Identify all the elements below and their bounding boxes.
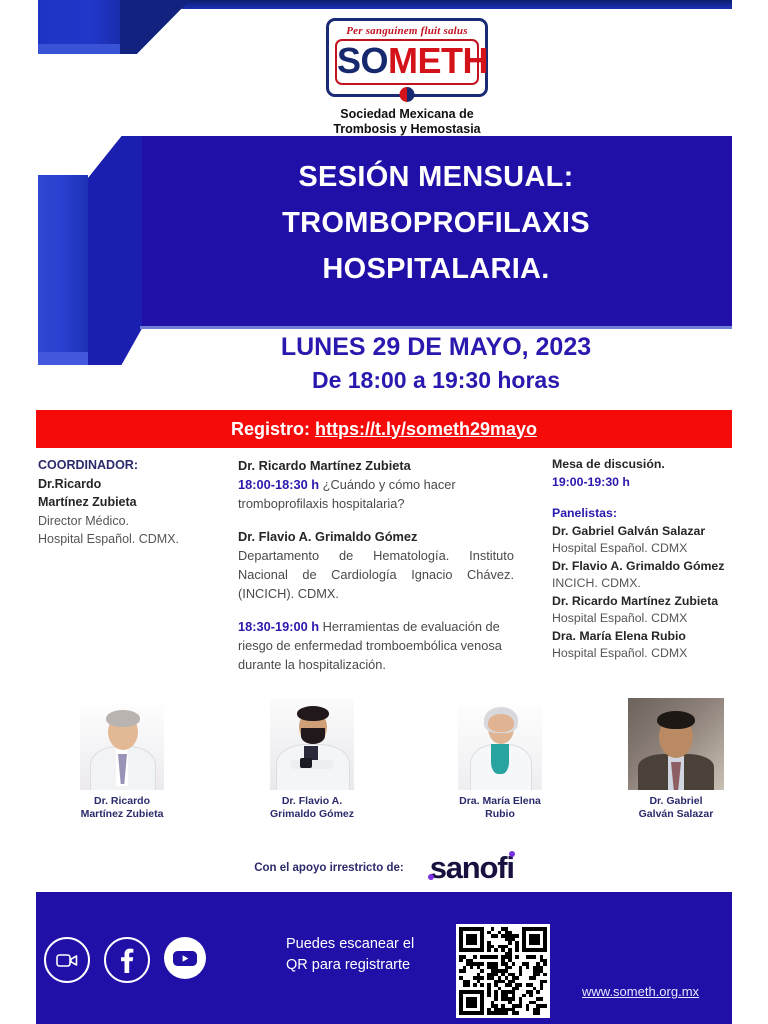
panelist-2-name: Dr. Flavio A. Grimaldo Gómez xyxy=(552,558,742,576)
panelist-4-name: Dra. María Elena Rubio xyxy=(552,628,742,646)
logo-outer-frame: Per sanguinem fluit salus SOMETH xyxy=(326,18,488,97)
sanofi-dot-left xyxy=(428,874,434,880)
sanofi-wordmark: sanofi xyxy=(430,850,514,885)
panel-heading: Mesa de discusión. xyxy=(552,456,742,474)
logo-subtitle-line1: Sociedad Mexicana de xyxy=(326,107,488,122)
speaker-caption-2-line2: Grimaldo Gómez xyxy=(222,808,402,821)
title-line-1: SESIÓN MENSUAL: xyxy=(140,154,732,200)
speaker-photo-3 xyxy=(458,698,542,790)
qr-caption-line1: Puedes escanear el xyxy=(286,934,446,955)
registration-text: Registro: https://t.ly/someth29mayo xyxy=(231,419,537,440)
hero-banner: SESIÓN MENSUAL: TROMBOPROFILAXIS HOSPITA… xyxy=(140,136,732,326)
program-item-2-speaker: Dr. Flavio A. Grimaldo Gómez xyxy=(238,529,417,544)
registration-bar[interactable]: Registro: https://t.ly/someth29mayo xyxy=(36,410,732,448)
sponsor-section: Con el apoyo irrestricto de: sanofi xyxy=(0,852,768,884)
speaker-photo-2 xyxy=(270,698,354,790)
speaker-caption-3: Dra. María Elena Rubio xyxy=(410,795,590,821)
sponsor-row: Con el apoyo irrestricto de: sanofi xyxy=(254,852,514,884)
top-left-ribbon-shadow xyxy=(38,44,134,54)
youtube-icon[interactable] xyxy=(164,937,206,979)
program-item-3: 18:30-19:00 h Herramientas de evaluación… xyxy=(238,617,514,674)
hero-left-slab-side xyxy=(88,136,142,365)
logo-subtitle-line2: Trombosis y Hemostasia xyxy=(326,122,488,137)
panelist-3-affiliation: Hospital Español. CDMX xyxy=(552,610,742,628)
logo-wordmark: SOMETH xyxy=(337,42,477,80)
website-link[interactable]: www.someth.org.mx xyxy=(582,984,699,999)
coordinator-name-line1: Dr.Ricardo xyxy=(38,475,228,494)
registration-link[interactable]: https://t.ly/someth29mayo xyxy=(315,419,537,439)
logo-word-meth: METH xyxy=(388,40,488,81)
portrait-illustration xyxy=(458,698,542,790)
event-date-block: LUNES 29 DE MAYO, 2023 De 18:00 a 19:30 … xyxy=(140,330,732,397)
speaker-card-4: Dr. Gabriel Galván Salazar xyxy=(586,698,766,821)
coordinator-affiliation: Hospital Español. CDMX. xyxy=(38,530,228,549)
speaker-card-2: Dr. Flavio A. Grimaldo Gómez xyxy=(222,698,402,821)
logo-blood-drop-icon xyxy=(400,87,415,102)
event-time: De 18:00 a 19:30 horas xyxy=(140,364,732,397)
social-links xyxy=(44,937,206,983)
sponsor-label: Con el apoyo irrestricto de: xyxy=(254,862,404,874)
speaker-card-1: Dr. Ricardo Martínez Zubieta xyxy=(32,698,212,821)
hero-left-slab-bottom xyxy=(38,352,90,365)
coordinator-name-line2: Martínez Zubieta xyxy=(38,493,228,512)
hero-underline xyxy=(140,326,732,329)
video-camera-icon[interactable] xyxy=(44,937,90,983)
panelist-3-name: Dr. Ricardo Martínez Zubieta xyxy=(552,593,742,611)
portrait-illustration xyxy=(628,698,724,790)
logo-word-so: SO xyxy=(337,40,388,81)
panelist-1-name: Dr. Gabriel Galván Salazar xyxy=(552,523,742,541)
speaker-photo-4 xyxy=(628,698,724,790)
panelists-label: Panelistas: xyxy=(552,505,742,523)
sanofi-dot-right xyxy=(509,851,515,857)
sanofi-logo: sanofi xyxy=(430,852,514,884)
speaker-photo-1 xyxy=(80,698,164,790)
someth-logo: Per sanguinem fluit salus SOMETH Socieda… xyxy=(326,18,488,137)
speaker-caption-1-line1: Dr. Ricardo xyxy=(32,795,212,808)
qr-caption-line2: QR para registrarte xyxy=(286,955,446,976)
program-column: Dr. Ricardo Martínez Zubieta 18:00-18:30… xyxy=(238,456,514,688)
coordinator-role: Director Médico. xyxy=(38,512,228,531)
logo-inner-frame: SOMETH xyxy=(335,39,479,85)
program-item-2: Dr. Flavio A. Grimaldo Gómez Departament… xyxy=(238,527,514,603)
panel-time: 19:00-19:30 h xyxy=(552,474,742,492)
logo-subtitle: Sociedad Mexicana de Trombosis y Hemosta… xyxy=(326,107,488,137)
qr-caption: Puedes escanear el QR para registrarte xyxy=(286,934,446,976)
panel-column: Mesa de discusión. 19:00-19:30 h Panelis… xyxy=(552,456,742,663)
registration-label: Registro: xyxy=(231,419,315,439)
portrait-illustration xyxy=(80,698,164,790)
title-line-2: TROMBOPROFILAXIS xyxy=(140,200,732,246)
coordinator-heading: COORDINADOR: xyxy=(38,456,228,475)
panelist-1-affiliation: Hospital Español. CDMX xyxy=(552,540,742,558)
logo-motto: Per sanguinem fluit salus xyxy=(335,24,479,38)
speaker-caption-1-line2: Martínez Zubieta xyxy=(32,808,212,821)
panelist-2-affiliation: INCICH. CDMX. xyxy=(552,575,742,593)
speaker-caption-4-line1: Dr. Gabriel xyxy=(586,795,766,808)
top-left-ribbon-diagonal xyxy=(120,0,190,54)
speaker-card-3: Dra. María Elena Rubio xyxy=(410,698,590,821)
speaker-caption-3-line2: Rubio xyxy=(410,808,590,821)
program-item-1: Dr. Ricardo Martínez Zubieta 18:00-18:30… xyxy=(238,456,514,513)
hero-left-slab-front xyxy=(38,175,90,365)
program-item-2-affiliation-line1: Departamento de Hematología. xyxy=(238,548,449,563)
panelist-4-affiliation: Hospital Español. CDMX xyxy=(552,645,742,663)
coordinator-column: COORDINADOR: Dr.Ricardo Martínez Zubieta… xyxy=(38,456,228,549)
facebook-icon[interactable] xyxy=(104,937,150,983)
program-item-3-time: 18:30-19:00 h xyxy=(238,619,319,634)
speaker-caption-2: Dr. Flavio A. Grimaldo Gómez xyxy=(222,795,402,821)
speaker-caption-2-line1: Dr. Flavio A. xyxy=(222,795,402,808)
portrait-illustration xyxy=(270,698,354,790)
speaker-caption-3-line1: Dra. María Elena xyxy=(410,795,590,808)
speaker-caption-1: Dr. Ricardo Martínez Zubieta xyxy=(32,795,212,821)
page-title: SESIÓN MENSUAL: TROMBOPROFILAXIS HOSPITA… xyxy=(140,154,732,292)
footer-bar: Puedes escanear el QR para registrarte w… xyxy=(36,892,732,1024)
speaker-caption-4-line2: Galván Salazar xyxy=(586,808,766,821)
panel-spacer xyxy=(552,491,742,505)
qr-code-matrix xyxy=(459,927,547,1015)
title-line-3: HOSPITALARIA. xyxy=(140,246,732,292)
qr-code[interactable] xyxy=(456,924,550,1018)
event-date: LUNES 29 DE MAYO, 2023 xyxy=(140,330,732,364)
speaker-caption-4: Dr. Gabriel Galván Salazar xyxy=(586,795,766,821)
top-accent-bar xyxy=(130,0,732,9)
program-item-1-time: 18:00-18:30 h xyxy=(238,477,319,492)
program-item-1-speaker: Dr. Ricardo Martínez Zubieta xyxy=(238,458,411,473)
speaker-photo-row: Dr. Ricardo Martínez Zubieta Dr. Flavio … xyxy=(0,698,768,828)
